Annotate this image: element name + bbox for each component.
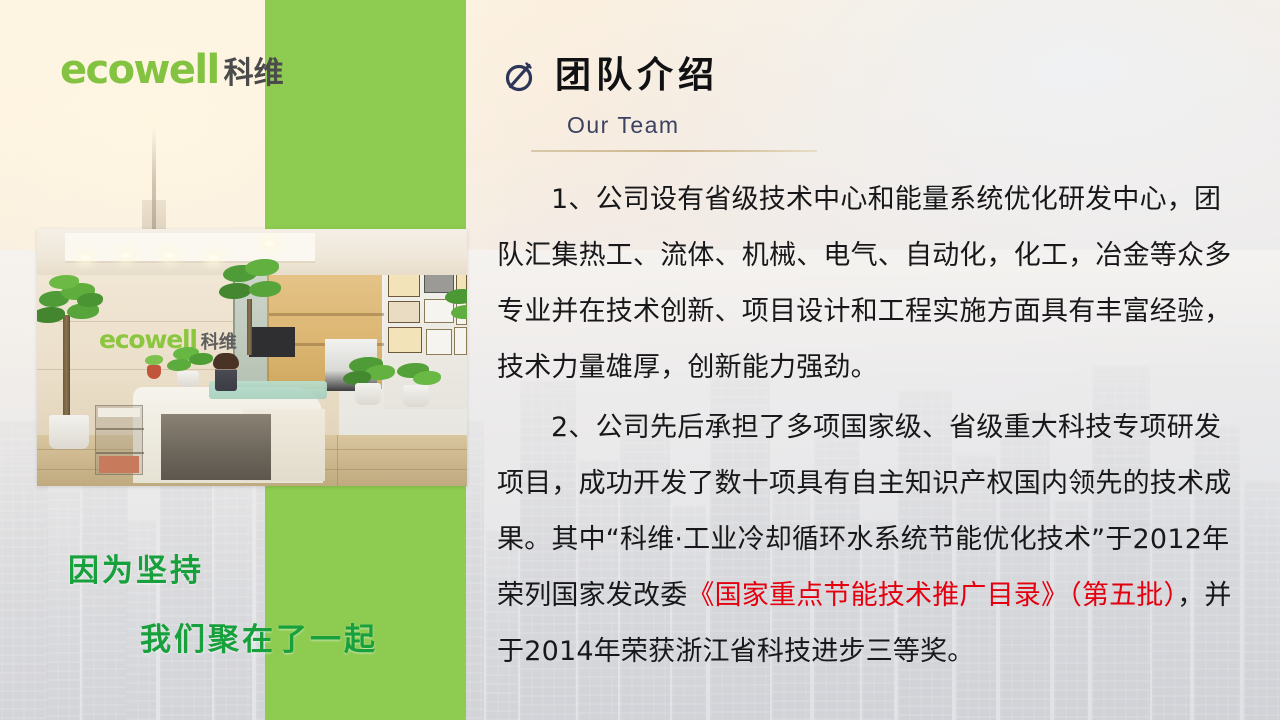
content-panel: 团队介绍 Our Team 1、公司设有省级技术中心和能量系统优化研发中心，团队… xyxy=(467,0,1280,720)
slogan-block: 因为坚持 我们聚在了一起 xyxy=(0,545,467,659)
photo-equipment-dark xyxy=(249,327,295,357)
photo-wall-logo: ecowell 科维 xyxy=(99,327,237,352)
photo-desk-metal-panel xyxy=(161,414,271,480)
body-text-block: 1、公司设有省级技术中心和能量系统优化研发中心，团队汇集热工、流体、机械、电气、… xyxy=(467,172,1257,682)
title-divider xyxy=(531,150,817,152)
paragraph-2-highlight: 《国家重点节能技术推广目录》（第五批） xyxy=(687,580,1177,611)
slogan-line-2: 我们聚在了一起 xyxy=(140,614,467,659)
page-title: 团队介绍 xyxy=(555,58,719,94)
page-title-row: 团队介绍 xyxy=(503,58,719,94)
paragraph-1: 1、公司设有省级技术中心和能量系统优化研发中心，团队汇集热工、流体、机械、电气、… xyxy=(467,172,1257,396)
logo-chinese-name: 科维 xyxy=(224,59,284,89)
page-subtitle: Our Team xyxy=(567,112,680,139)
paragraph-2: 2、公司先后承担了多项国家级、省级重大科技专项研发项目，成功开发了数十项具有自主… xyxy=(467,400,1257,680)
company-logo: ecowell 科维 xyxy=(60,50,284,90)
logo-wordmark: ecowell xyxy=(60,50,219,90)
slide-canvas: ecowell 科维 xyxy=(0,0,1280,720)
photo-ceiling-panel xyxy=(65,233,315,263)
slogan-line-1: 因为坚持 xyxy=(68,545,467,590)
office-reception-photo: ecowell 科维 xyxy=(37,229,467,486)
circle-slash-icon xyxy=(503,59,537,93)
photo-receptionist-hair xyxy=(213,353,239,369)
photo-wall-logo-chinese: 科维 xyxy=(201,334,237,352)
photo-storage-cart xyxy=(95,405,143,475)
